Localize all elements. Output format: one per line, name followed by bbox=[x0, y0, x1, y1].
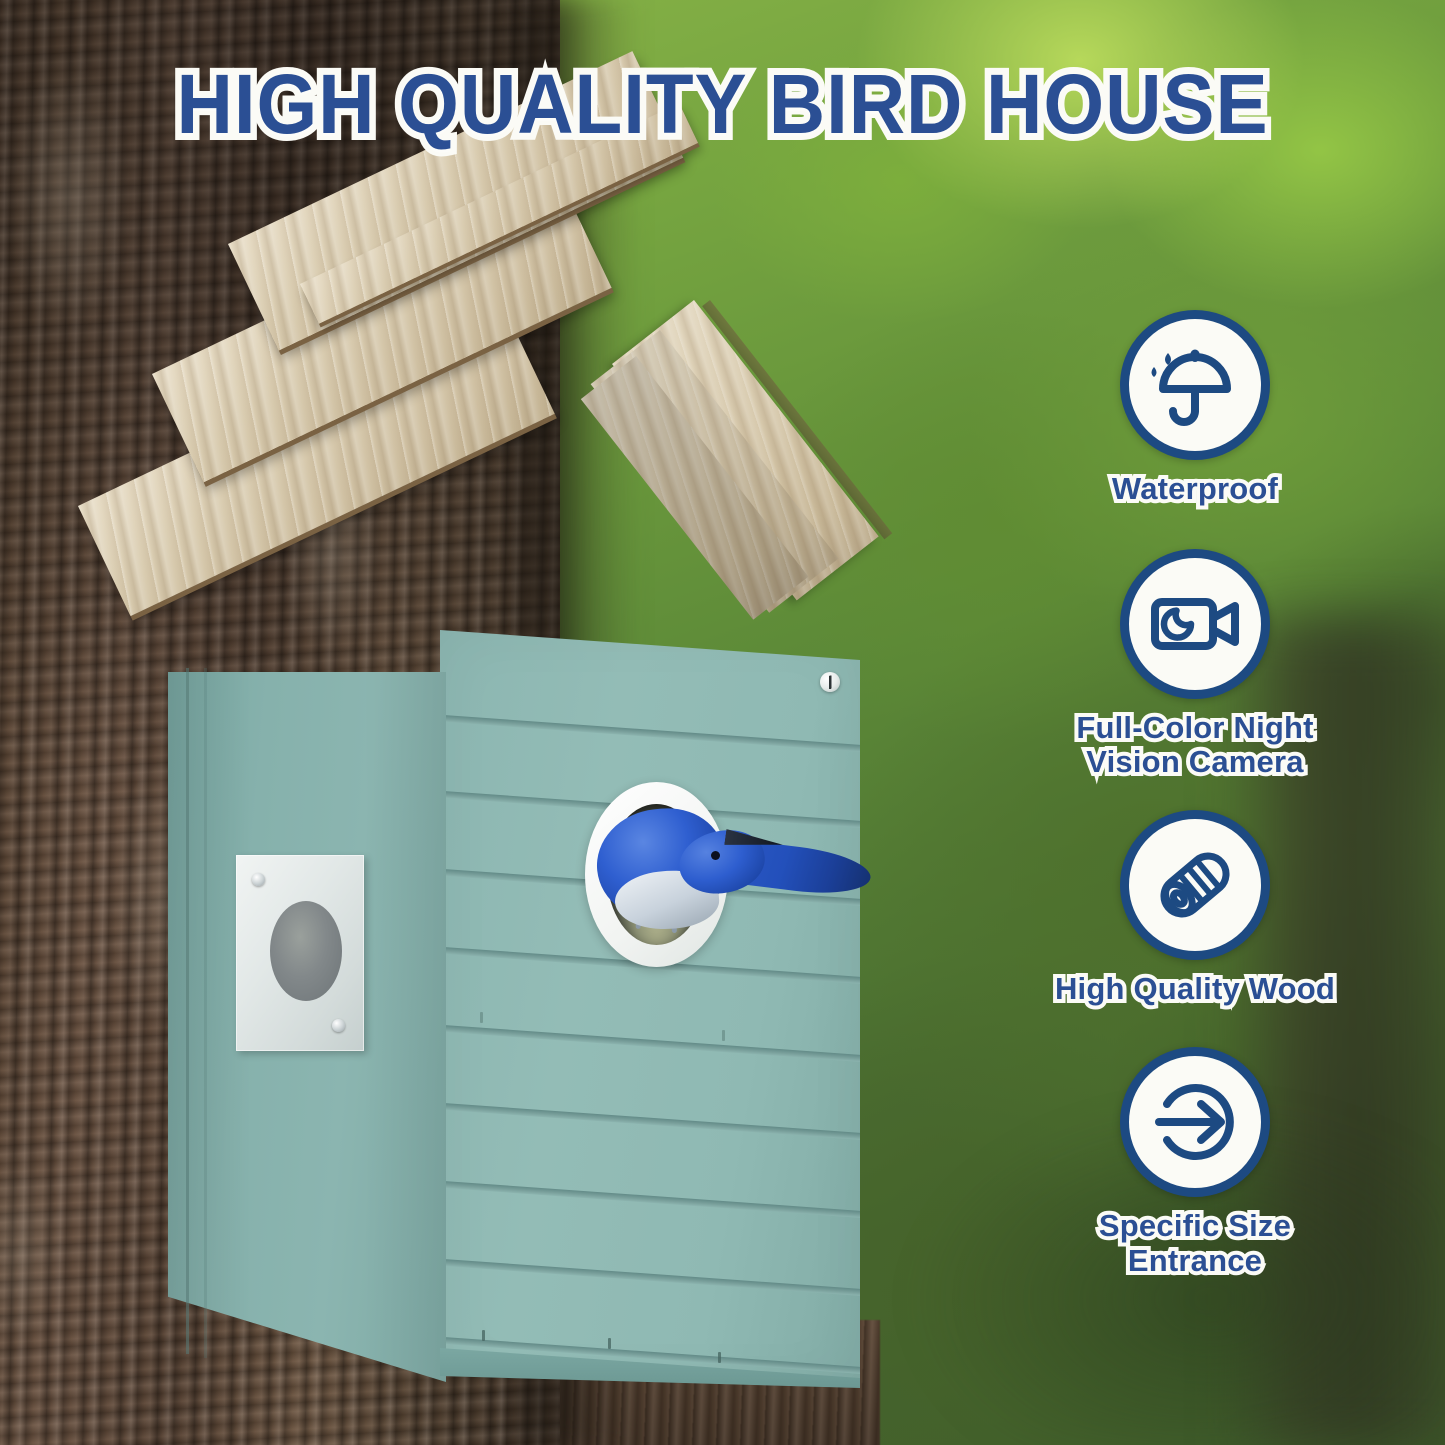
night-vision-camera-icon bbox=[1120, 549, 1270, 699]
nail-mark bbox=[722, 1030, 725, 1041]
feature-label: High Quality Wood bbox=[1030, 972, 1360, 1007]
feature-label-line-1: Full-Color Night bbox=[1030, 711, 1360, 746]
blue-bird bbox=[575, 795, 875, 965]
bird-eye bbox=[711, 851, 720, 860]
nail-mark bbox=[718, 1352, 721, 1363]
nail-mark bbox=[482, 1330, 485, 1341]
feature-list: Waterproof Full-Color Night Vision Camer… bbox=[1030, 310, 1360, 1278]
page-title: HIGH QUALITY BIRD HOUSE bbox=[51, 62, 1395, 146]
product-marketing-image: HIGH QUALITY BIRD HOUSE Waterproof bbox=[0, 0, 1445, 1445]
side-access-panel bbox=[236, 855, 364, 1051]
nail-mark bbox=[480, 1012, 483, 1023]
feature-high-quality-wood: High Quality Wood bbox=[1030, 810, 1360, 1007]
panel-screw-bottom-right bbox=[332, 1019, 345, 1032]
feature-label: Specific Size Entrance bbox=[1030, 1209, 1360, 1278]
feature-label: Full-Color Night Vision Camera bbox=[1030, 711, 1360, 780]
nail-mark bbox=[608, 1338, 611, 1349]
side-panel-port bbox=[270, 901, 342, 1001]
side-seam-left bbox=[186, 668, 189, 1354]
side-seam-left-2 bbox=[204, 668, 207, 1358]
mounting-screw bbox=[820, 672, 840, 692]
panel-screw-top-left bbox=[252, 873, 265, 886]
feature-night-vision-camera: Full-Color Night Vision Camera bbox=[1030, 549, 1360, 780]
feature-label-line-2: Vision Camera bbox=[1030, 745, 1360, 780]
feature-label: Waterproof bbox=[1030, 472, 1360, 507]
arrow-into-circle-icon bbox=[1120, 1047, 1270, 1197]
feature-specific-size-entrance: Specific Size Entrance bbox=[1030, 1047, 1360, 1278]
wood-log-icon bbox=[1120, 810, 1270, 960]
feature-waterproof: Waterproof bbox=[1030, 310, 1360, 507]
bird-house-siding-grooves bbox=[440, 630, 860, 1386]
umbrella-rain-icon bbox=[1120, 310, 1270, 460]
